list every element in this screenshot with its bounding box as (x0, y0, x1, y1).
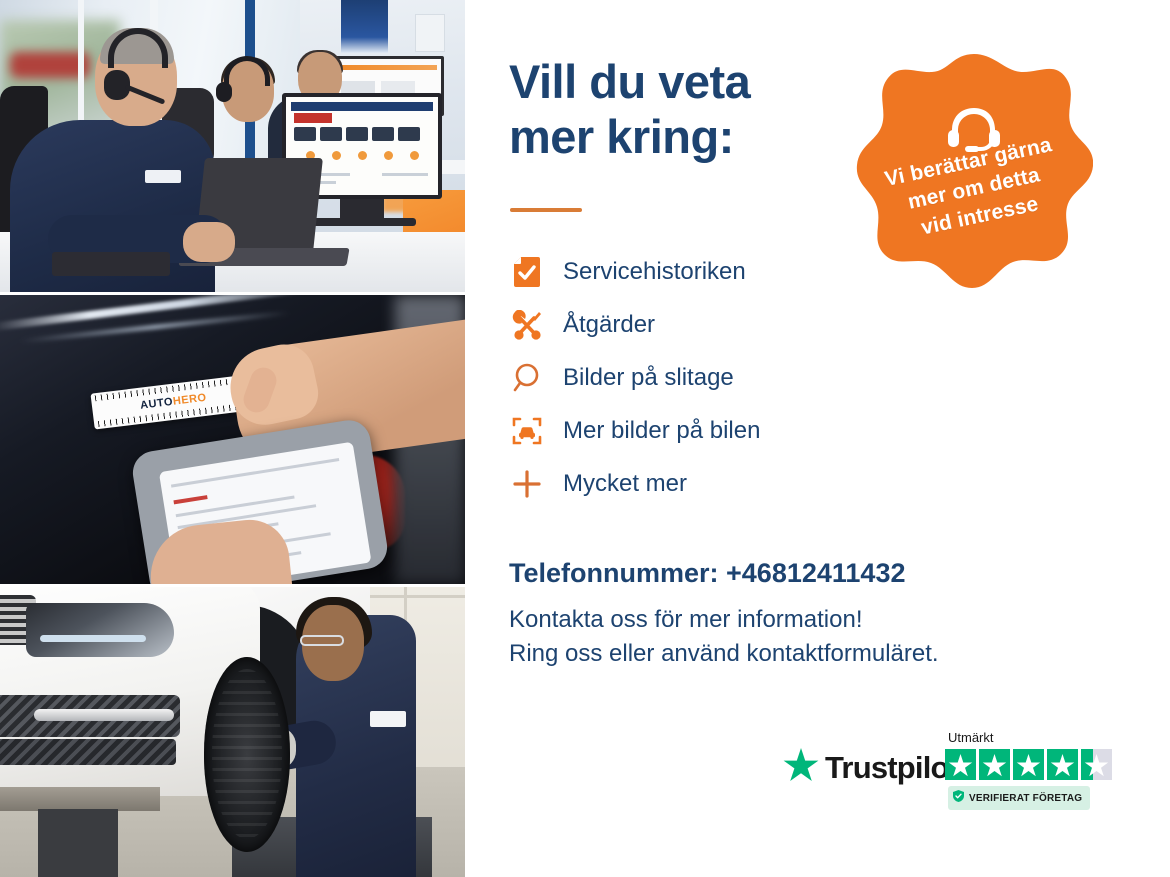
feature-item-servicehistoriken: Servicehistoriken (505, 245, 925, 298)
contact-text: Kontakta oss för mer information! Ring o… (509, 603, 939, 671)
feature-label: Mycket mer (563, 470, 687, 498)
plus-icon (505, 469, 549, 499)
trustpilot-logo: Trustpilot (783, 748, 958, 787)
trustpilot-rating-label: Utmärkt (948, 730, 1125, 745)
feature-item-bilder-pa-slitage: Bilder på slitage (505, 351, 925, 404)
feature-label: Bilder på slitage (563, 364, 734, 392)
content-column: Vill du veta mer kring: Vi berättar gärn… (465, 0, 1170, 877)
magnifier-icon (505, 363, 549, 393)
feature-item-mycket-mer: Mycket mer (505, 457, 925, 510)
trustpilot-star-icon (783, 748, 819, 787)
page-title: Vill du veta mer kring: (509, 55, 750, 165)
feature-item-mer-bilder-pa-bilen: Mer bilder på bilen (505, 404, 925, 457)
star-filled-1 (945, 749, 976, 780)
wrench-screwdriver-icon (505, 310, 549, 340)
trustpilot-widget[interactable]: Trustpilot Utmärkt (783, 730, 1123, 820)
verified-business-badge: VERIFIERAT FÖRETAG (948, 786, 1090, 810)
star-filled-2 (979, 749, 1010, 780)
workshop-tire-change-photo (0, 587, 465, 877)
call-center-agents-photo (0, 0, 465, 292)
feature-label: Mer bilder på bilen (563, 417, 760, 445)
car-inspection-ruler-photo: AUTOHERO (0, 295, 465, 584)
promo-panel: AUTOHERO (0, 0, 1170, 877)
star-partial-5 (1081, 749, 1112, 780)
feature-item-atgarder: Åtgärder (505, 298, 925, 351)
trustpilot-brand: Trustpilot (825, 750, 958, 786)
car-scan-icon (505, 416, 549, 446)
title-divider (510, 208, 582, 212)
document-check-icon (505, 257, 549, 287)
feature-label: Servicehistoriken (563, 258, 746, 286)
trustpilot-rating: Utmärkt (945, 730, 1125, 810)
verified-shield-icon (953, 789, 964, 807)
trustpilot-stars (945, 749, 1125, 780)
star-filled-4 (1047, 749, 1078, 780)
feature-list: Servicehistoriken Åtgärder (505, 245, 925, 510)
photo-column: AUTOHERO (0, 0, 465, 877)
star-filled-3 (1013, 749, 1044, 780)
phone-number: Telefonnummer: +46812411432 (509, 558, 905, 589)
feature-label: Åtgärder (563, 311, 655, 339)
verified-label: VERIFIERAT FÖRETAG (969, 793, 1082, 804)
